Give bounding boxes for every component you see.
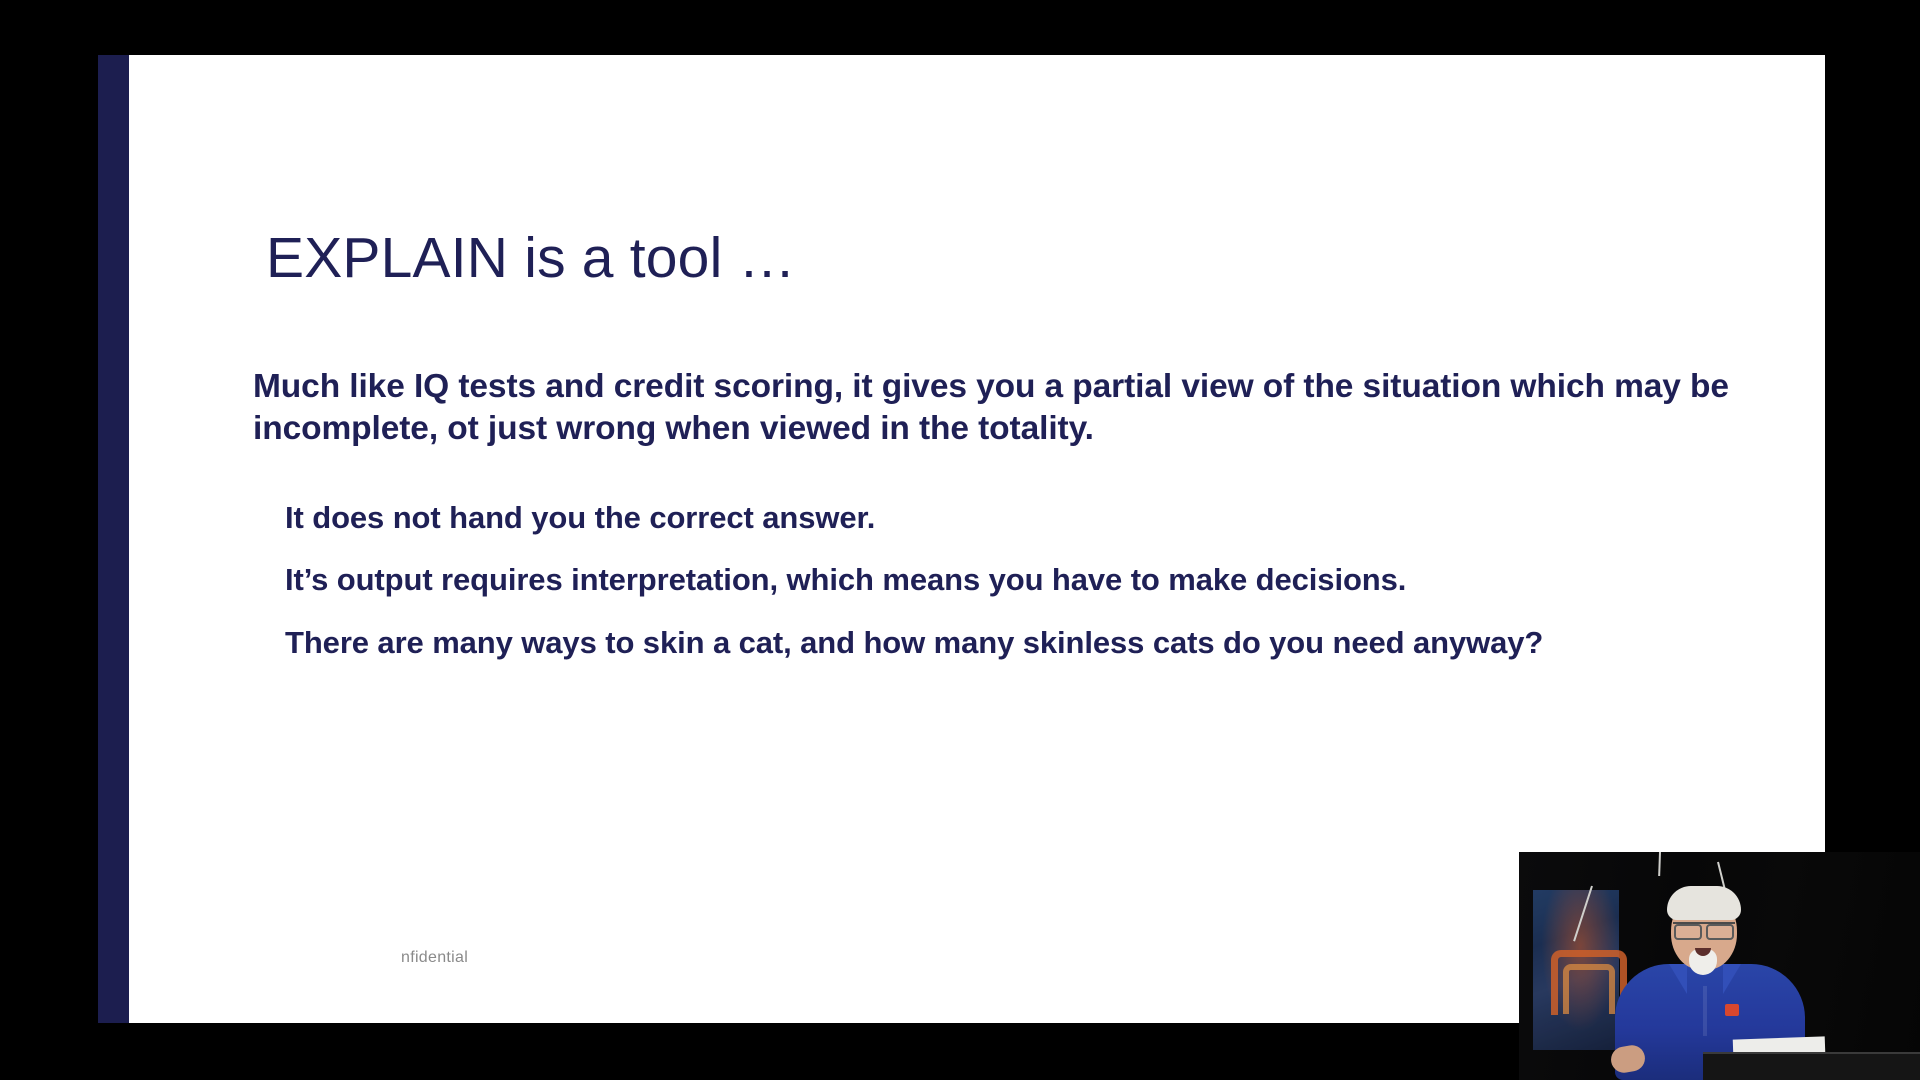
presenter-shirt-placket bbox=[1703, 986, 1707, 1036]
list-item: It’s output requires interpretation, whi… bbox=[285, 560, 1785, 600]
bullet-list: It does not hand you the correct answer.… bbox=[285, 498, 1785, 663]
presenter-shirt-logo bbox=[1725, 1004, 1739, 1016]
video-stage: EXPLAIN is a tool … Much like IQ tests a… bbox=[0, 0, 1920, 1080]
stage-banner bbox=[1533, 890, 1619, 1050]
slide-footer-confidential-label: nfidential bbox=[401, 949, 497, 967]
list-item: It does not hand you the correct answer. bbox=[285, 498, 1785, 538]
presenter-glasses bbox=[1673, 922, 1735, 935]
presenter-collar-right bbox=[1723, 964, 1741, 994]
presenter-collar-left bbox=[1669, 964, 1687, 994]
page-title: EXPLAIN is a tool … bbox=[266, 229, 796, 289]
presenter-webcam-overlay bbox=[1519, 852, 1920, 1080]
list-item: There are many ways to skin a cat, and h… bbox=[285, 623, 1785, 663]
podium bbox=[1703, 1052, 1920, 1080]
lead-paragraph: Much like IQ tests and credit scoring, i… bbox=[253, 366, 1798, 450]
slide-accent-bar bbox=[98, 55, 129, 1023]
presenter-hair bbox=[1667, 886, 1741, 920]
